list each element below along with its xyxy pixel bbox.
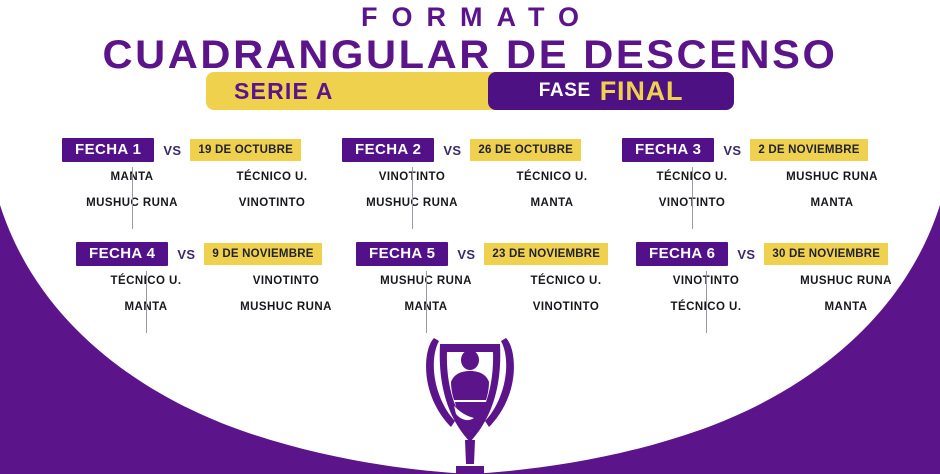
fixtures-row-1: FECHA 1 VS 19 DE OCTUBRE MANTA MUSHUC RU… — [0, 138, 940, 223]
vs-label: VS — [457, 247, 475, 262]
vs-label: VS — [163, 143, 181, 158]
vs-label: VS — [723, 143, 741, 158]
date-badge: 26 DE OCTUBRE — [470, 139, 581, 161]
vs-label: VS — [443, 143, 461, 158]
team-name: TÉCNICO U. — [482, 171, 622, 184]
vs-label: VS — [177, 247, 195, 262]
team-name: VINOTINTO — [202, 197, 342, 210]
team-name: VINOTINTO — [496, 301, 636, 314]
team-name: MANTA — [762, 197, 902, 210]
fixture-body: VINOTINTO MUSHUC RUNA TÉCNICO U. MANTA — [342, 171, 622, 223]
team-name: MUSHUC RUNA — [762, 171, 902, 184]
team-name: VINOTINTO — [216, 275, 356, 288]
team-name: TÉCNICO U. — [202, 171, 342, 184]
serie-fase-banner: SERIE A FASE FINAL — [206, 72, 734, 110]
column-divider — [706, 271, 707, 333]
team-name: MANTA — [776, 301, 916, 314]
matchday-badge: FECHA 4 — [76, 242, 168, 266]
team-name: TÉCNICO U. — [496, 275, 636, 288]
column-divider — [692, 167, 693, 229]
matchday-badge: FECHA 5 — [356, 242, 448, 266]
serie-label: SERIE A — [234, 78, 334, 105]
fixture-header: FECHA 2 VS 26 DE OCTUBRE — [342, 138, 622, 162]
fixture-card[interactable]: FECHA 5 VS 23 DE NOVIEMBRE MUSHUC RUNA M… — [356, 242, 636, 327]
date-badge: 30 DE NOVIEMBRE — [764, 243, 888, 265]
fixture-card[interactable]: FECHA 4 VS 9 DE NOVIEMBRE TÉCNICO U. MAN… — [76, 242, 356, 327]
away-column: VINOTINTO MUSHUC RUNA — [216, 275, 356, 327]
fase-badge: FASE FINAL — [488, 72, 734, 110]
poster-canvas: FORMATO CUADRANGULAR DE DESCENSO SERIE A… — [0, 0, 940, 474]
vs-label: VS — [737, 247, 755, 262]
matchday-badge: FECHA 2 — [342, 138, 434, 162]
team-name: MUSHUC RUNA — [776, 275, 916, 288]
fase-label: FASE — [539, 80, 591, 102]
home-column: VINOTINTO MUSHUC RUNA — [342, 171, 482, 223]
away-column: TÉCNICO U. VINOTINTO — [202, 171, 342, 223]
away-column: TÉCNICO U. MANTA — [482, 171, 622, 223]
fixture-body: VINOTINTO TÉCNICO U. MUSHUC RUNA MANTA — [636, 275, 916, 327]
poster-header: FORMATO CUADRANGULAR DE DESCENSO — [0, 0, 940, 76]
matchday-badge: FECHA 6 — [636, 242, 728, 266]
column-divider — [426, 271, 427, 333]
fixture-body: TÉCNICO U. VINOTINTO MUSHUC RUNA MANTA — [622, 171, 902, 223]
fixture-body: MANTA MUSHUC RUNA TÉCNICO U. VINOTINTO — [62, 171, 342, 223]
fixture-body: TÉCNICO U. MANTA VINOTINTO MUSHUC RUNA — [76, 275, 356, 327]
away-column: TÉCNICO U. VINOTINTO — [496, 275, 636, 327]
fixture-header: FECHA 4 VS 9 DE NOVIEMBRE — [76, 242, 356, 266]
final-label: FINAL — [600, 76, 683, 107]
page-kicker: FORMATO — [0, 2, 940, 32]
fixture-body: MUSHUC RUNA MANTA TÉCNICO U. VINOTINTO — [356, 275, 636, 327]
home-column: TÉCNICO U. MANTA — [76, 275, 216, 327]
matchday-badge: FECHA 1 — [62, 138, 154, 162]
fixture-header: FECHA 3 VS 2 DE NOVIEMBRE — [622, 138, 902, 162]
fixtures-grid: FECHA 1 VS 19 DE OCTUBRE MANTA MUSHUC RU… — [0, 138, 940, 327]
fixture-card[interactable]: FECHA 3 VS 2 DE NOVIEMBRE TÉCNICO U. VIN… — [622, 138, 902, 223]
column-divider — [412, 167, 413, 229]
date-badge: 23 DE NOVIEMBRE — [484, 243, 608, 265]
matchday-badge: FECHA 3 — [622, 138, 714, 162]
fixtures-row-2: FECHA 4 VS 9 DE NOVIEMBRE TÉCNICO U. MAN… — [0, 242, 940, 327]
fixture-card[interactable]: FECHA 6 VS 30 DE NOVIEMBRE VINOTINTO TÉC… — [636, 242, 916, 327]
away-column: MUSHUC RUNA MANTA — [762, 171, 902, 223]
home-column: MANTA MUSHUC RUNA — [62, 171, 202, 223]
fixture-header: FECHA 6 VS 30 DE NOVIEMBRE — [636, 242, 916, 266]
team-name: MUSHUC RUNA — [216, 301, 356, 314]
fixture-card[interactable]: FECHA 2 VS 26 DE OCTUBRE VINOTINTO MUSHU… — [342, 138, 622, 223]
fixture-card[interactable]: FECHA 1 VS 19 DE OCTUBRE MANTA MUSHUC RU… — [62, 138, 342, 223]
home-column: MUSHUC RUNA MANTA — [356, 275, 496, 327]
page-title: CUADRANGULAR DE DESCENSO — [0, 34, 940, 76]
away-column: MUSHUC RUNA MANTA — [776, 275, 916, 327]
date-badge: 2 DE NOVIEMBRE — [750, 139, 867, 161]
fixture-header: FECHA 1 VS 19 DE OCTUBRE — [62, 138, 342, 162]
home-column: TÉCNICO U. VINOTINTO — [622, 171, 762, 223]
team-name: MANTA — [482, 197, 622, 210]
column-divider — [132, 167, 133, 229]
date-badge: 9 DE NOVIEMBRE — [204, 243, 321, 265]
column-divider — [146, 271, 147, 333]
date-badge: 19 DE OCTUBRE — [190, 139, 301, 161]
fixture-header: FECHA 5 VS 23 DE NOVIEMBRE — [356, 242, 636, 266]
home-column: VINOTINTO TÉCNICO U. — [636, 275, 776, 327]
trophy-icon — [418, 330, 522, 474]
